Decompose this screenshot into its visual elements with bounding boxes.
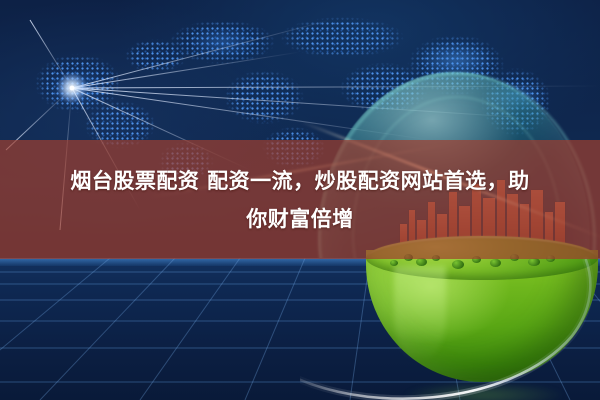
caption-line-1: 烟台股票配资 配资一流，炒股配资网站首选，助 [10,162,590,200]
caption-band: 烟台股票配资 配资一流，炒股配资网站首选，助 你财富倍增 [0,140,600,259]
caption-line-2: 你财富倍增 [10,200,590,238]
banner-image: 烟台股票配资 配资一流，炒股配资网站首选，助 你财富倍增 [0,0,600,400]
light-trail-swoosh [300,240,600,400]
caption-text: 烟台股票配资 配资一流，炒股配资网站首选，助 你财富倍增 [10,162,590,238]
